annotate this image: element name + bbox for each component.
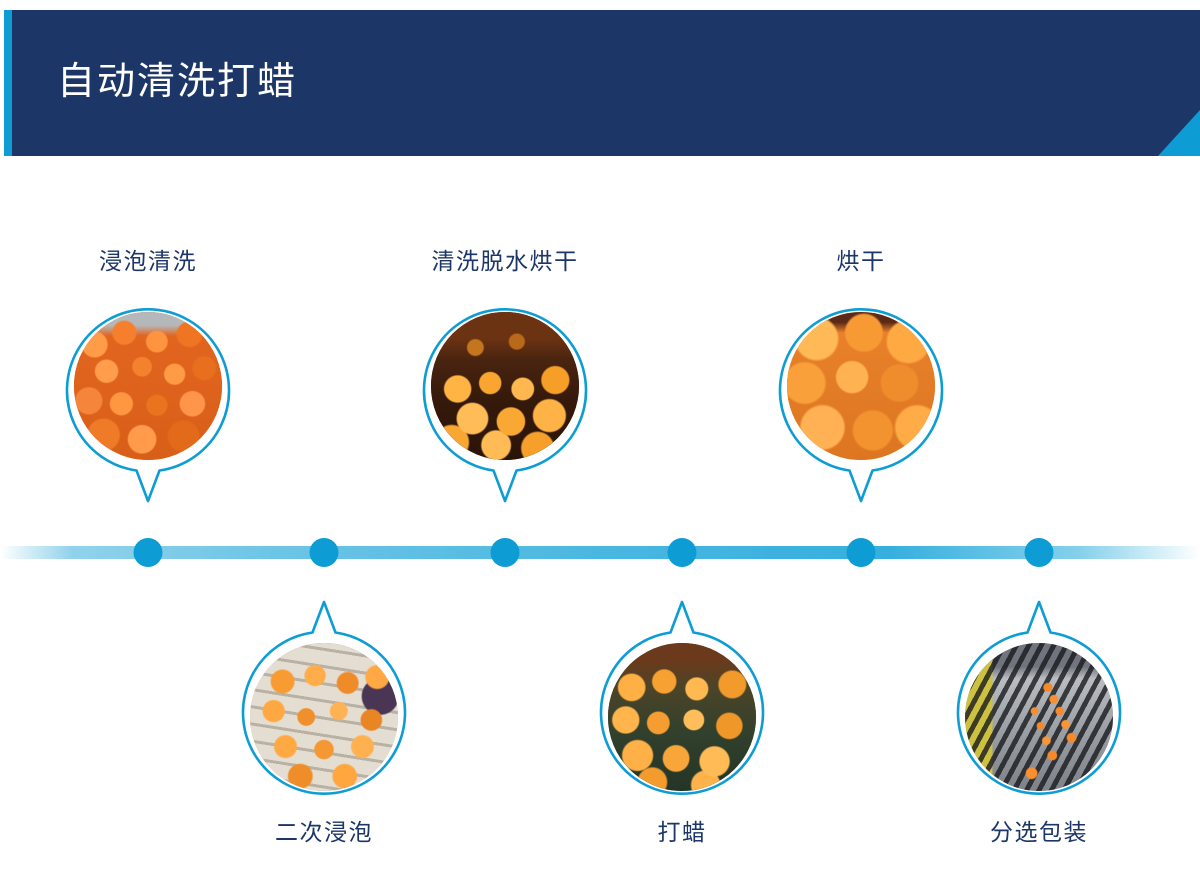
timeline-node-4[interactable]	[668, 538, 697, 567]
stage-bubble-2[interactable]	[238, 597, 410, 803]
header-corner-triangle-icon	[1158, 110, 1200, 156]
timeline-node-5[interactable]	[847, 538, 876, 567]
stage-bubble-5[interactable]	[775, 300, 947, 506]
stage-ring-pointer-3	[419, 300, 591, 506]
timeline-track	[0, 546, 1200, 559]
stage-ring-pointer-2	[238, 597, 410, 803]
page-title: 自动清洗打蜡	[57, 60, 297, 106]
stage-label-2: 二次浸泡	[209, 819, 439, 847]
stage-bubble-1[interactable]	[62, 300, 234, 506]
stage-item-3[interactable]: 清洗脱水烘干	[390, 248, 620, 506]
stage-ring-pointer-1	[62, 300, 234, 506]
stage-label-4: 打蜡	[567, 819, 797, 847]
stage-ring-pointer-4	[596, 597, 768, 803]
timeline-node-2[interactable]	[310, 538, 339, 567]
slide-canvas: 自动清洗打蜡 浸泡清洗 清洗脱水烘干	[0, 0, 1200, 872]
slide-header: 自动清洗打蜡	[4, 10, 1200, 156]
header-accent-bar	[4, 10, 12, 156]
stage-item-4[interactable]: 打蜡	[567, 597, 797, 847]
timeline-node-6[interactable]	[1025, 538, 1054, 567]
stage-label-5: 烘干	[746, 248, 976, 276]
stage-item-2[interactable]: 二次浸泡	[209, 597, 439, 847]
stage-item-1[interactable]: 浸泡清洗	[33, 248, 263, 506]
stage-label-3: 清洗脱水烘干	[390, 248, 620, 276]
stage-item-6[interactable]: 分选包装	[924, 597, 1154, 847]
timeline-node-1[interactable]	[134, 538, 163, 567]
stage-label-1: 浸泡清洗	[33, 248, 263, 276]
stage-label-6: 分选包装	[924, 819, 1154, 847]
timeline-node-3[interactable]	[491, 538, 520, 567]
stage-item-5[interactable]: 烘干	[746, 248, 976, 506]
stage-bubble-4[interactable]	[596, 597, 768, 803]
stage-ring-pointer-5	[775, 300, 947, 506]
stage-bubble-3[interactable]	[419, 300, 591, 506]
stage-ring-pointer-6	[953, 597, 1125, 803]
stage-bubble-6[interactable]	[953, 597, 1125, 803]
